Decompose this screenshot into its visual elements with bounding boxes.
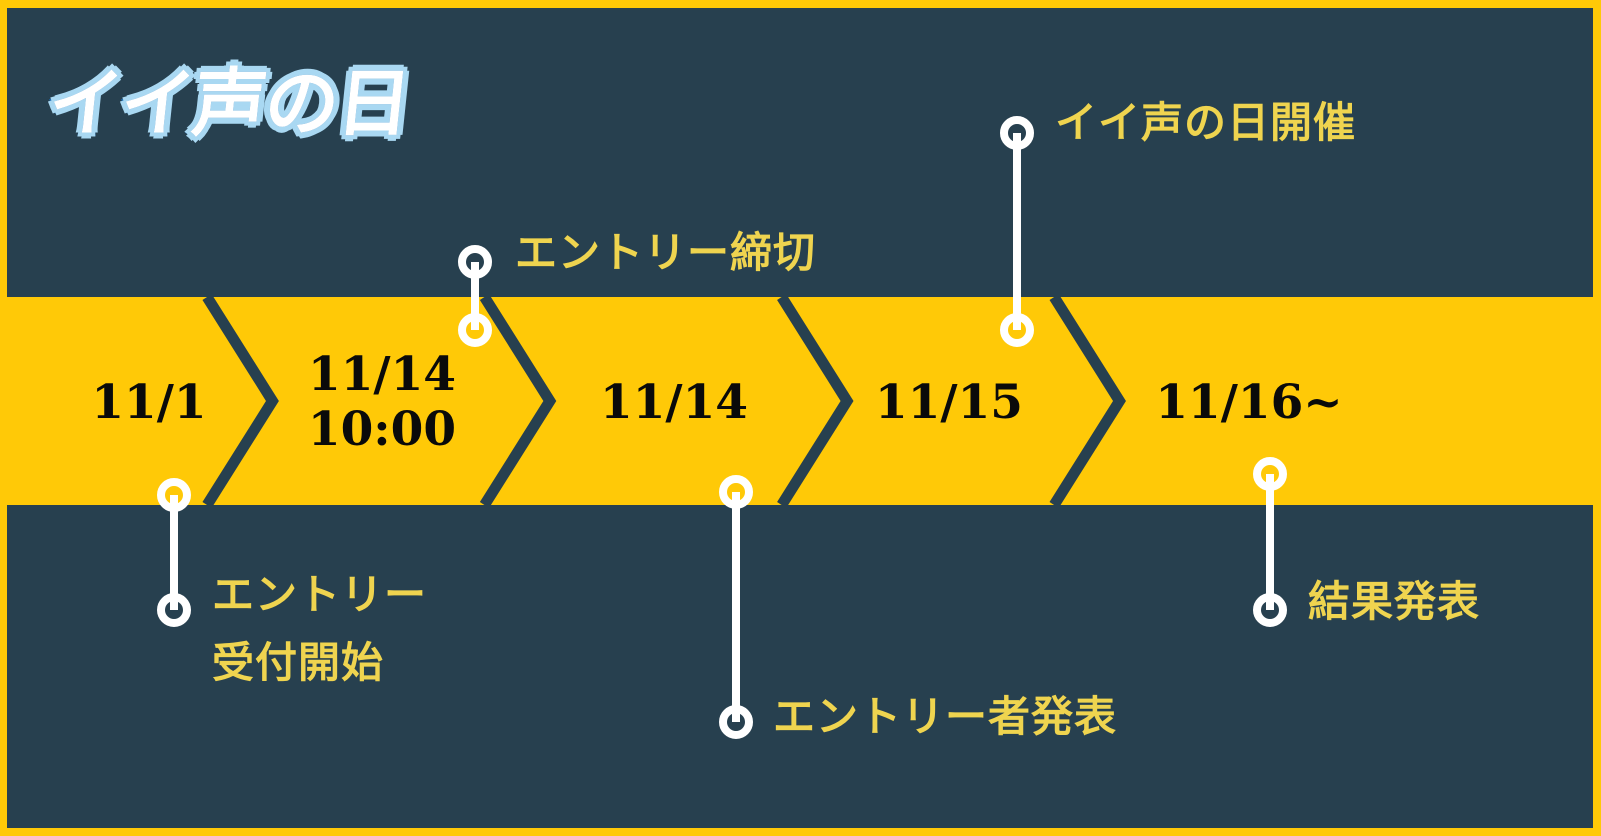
- callout-label-event-day: イイ声の日開催: [1055, 95, 1356, 151]
- callout-label-entry-deadline: エントリー締切: [515, 225, 816, 281]
- callout-connector-entry-open: [159, 478, 189, 628]
- callout-connector-event-day: [1002, 116, 1032, 351]
- segment-date-4: 11/15: [854, 375, 1044, 430]
- callout-label-entry-open: エントリー 受付開始: [212, 561, 427, 697]
- callout-label-results: 結果発表: [1308, 574, 1480, 630]
- segment-date-1: 11/1: [59, 375, 239, 430]
- chevron-separators: [7, 297, 1593, 505]
- callout-connector-results: [1255, 457, 1285, 632]
- callout-label-entrants-announced: エントリー者発表: [773, 689, 1117, 745]
- timeline-band: 11/1 11/14 10:00 11/14 11/15 11/16~: [7, 297, 1593, 505]
- callout-connector-entrants-announced: [721, 475, 751, 740]
- segment-date-5: 11/16~: [1144, 375, 1354, 430]
- event-logo-text: イイ声の日: [44, 52, 435, 156]
- poster-stage: イイ声の日 11/1 11/14 10:00 11/14 11/15 11/16…: [7, 8, 1593, 828]
- callout-connector-entry-deadline: [460, 245, 490, 350]
- event-logo: イイ声の日: [49, 52, 429, 162]
- segment-date-3: 11/14: [579, 375, 769, 430]
- segment-date-2: 11/14 10:00: [277, 347, 487, 457]
- poster-frame: イイ声の日 11/1 11/14 10:00 11/14 11/15 11/16…: [0, 0, 1601, 836]
